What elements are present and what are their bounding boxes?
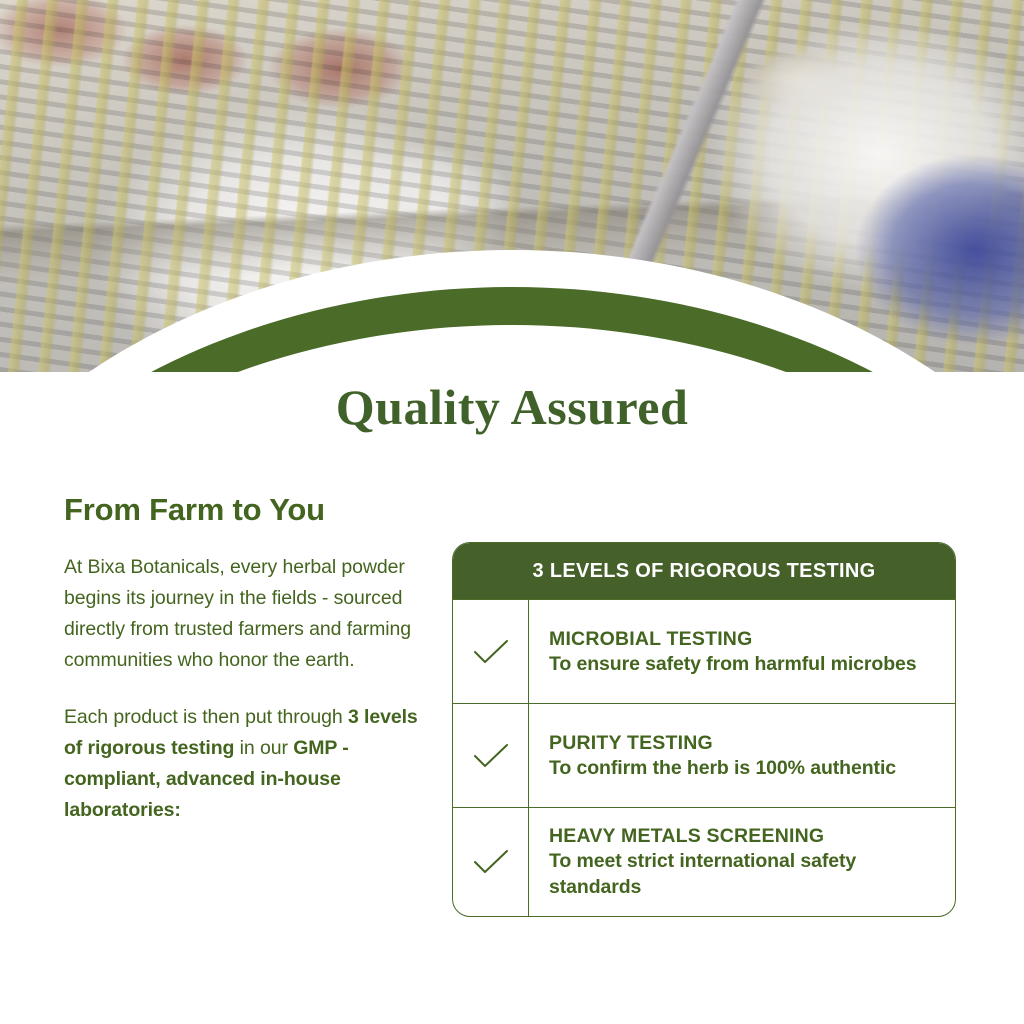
row-check-cell (453, 600, 529, 703)
section-subheading: From Farm to You (64, 492, 436, 528)
row-title: HEAVY METALS SCREENING (549, 824, 937, 848)
row-description: To ensure safety from harmful microbes (549, 651, 937, 677)
row-content: HEAVY METALS SCREENING To meet strict in… (529, 808, 955, 916)
check-icon (473, 849, 509, 875)
quality-assured-poster: Quality Assured From Farm to You At Bixa… (0, 0, 1024, 1024)
paragraph-testing-part2: in our (234, 737, 293, 759)
paragraph-origin: At Bixa Botanicals, every herbal powder … (64, 552, 436, 676)
table-row: HEAVY METALS SCREENING To meet strict in… (453, 807, 955, 916)
page-title: Quality Assured (0, 378, 1024, 436)
testing-levels-card: 3 LEVELS OF RIGOROUS TESTING MICROBIAL T… (452, 542, 956, 917)
left-column: From Farm to You At Bixa Botanicals, eve… (64, 492, 436, 852)
row-title: MICROBIAL TESTING (549, 627, 937, 651)
row-content: MICROBIAL TESTING To ensure safety from … (529, 600, 955, 703)
check-icon (473, 639, 509, 665)
paragraph-testing-part1: Each product is then put through (64, 706, 348, 728)
card-header: 3 LEVELS OF RIGOROUS TESTING (453, 543, 955, 599)
row-title: PURITY TESTING (549, 731, 937, 755)
hero-image (0, 0, 1024, 372)
table-row: PURITY TESTING To confirm the herb is 10… (453, 703, 955, 807)
row-description: To confirm the herb is 100% authentic (549, 755, 937, 781)
row-check-cell (453, 704, 529, 807)
row-check-cell (453, 808, 529, 916)
row-description: To meet strict international safety stan… (549, 848, 937, 900)
paragraph-testing: Each product is then put through 3 level… (64, 702, 436, 826)
row-content: PURITY TESTING To confirm the herb is 10… (529, 704, 955, 807)
table-row: MICROBIAL TESTING To ensure safety from … (453, 599, 955, 703)
check-icon (473, 743, 509, 769)
